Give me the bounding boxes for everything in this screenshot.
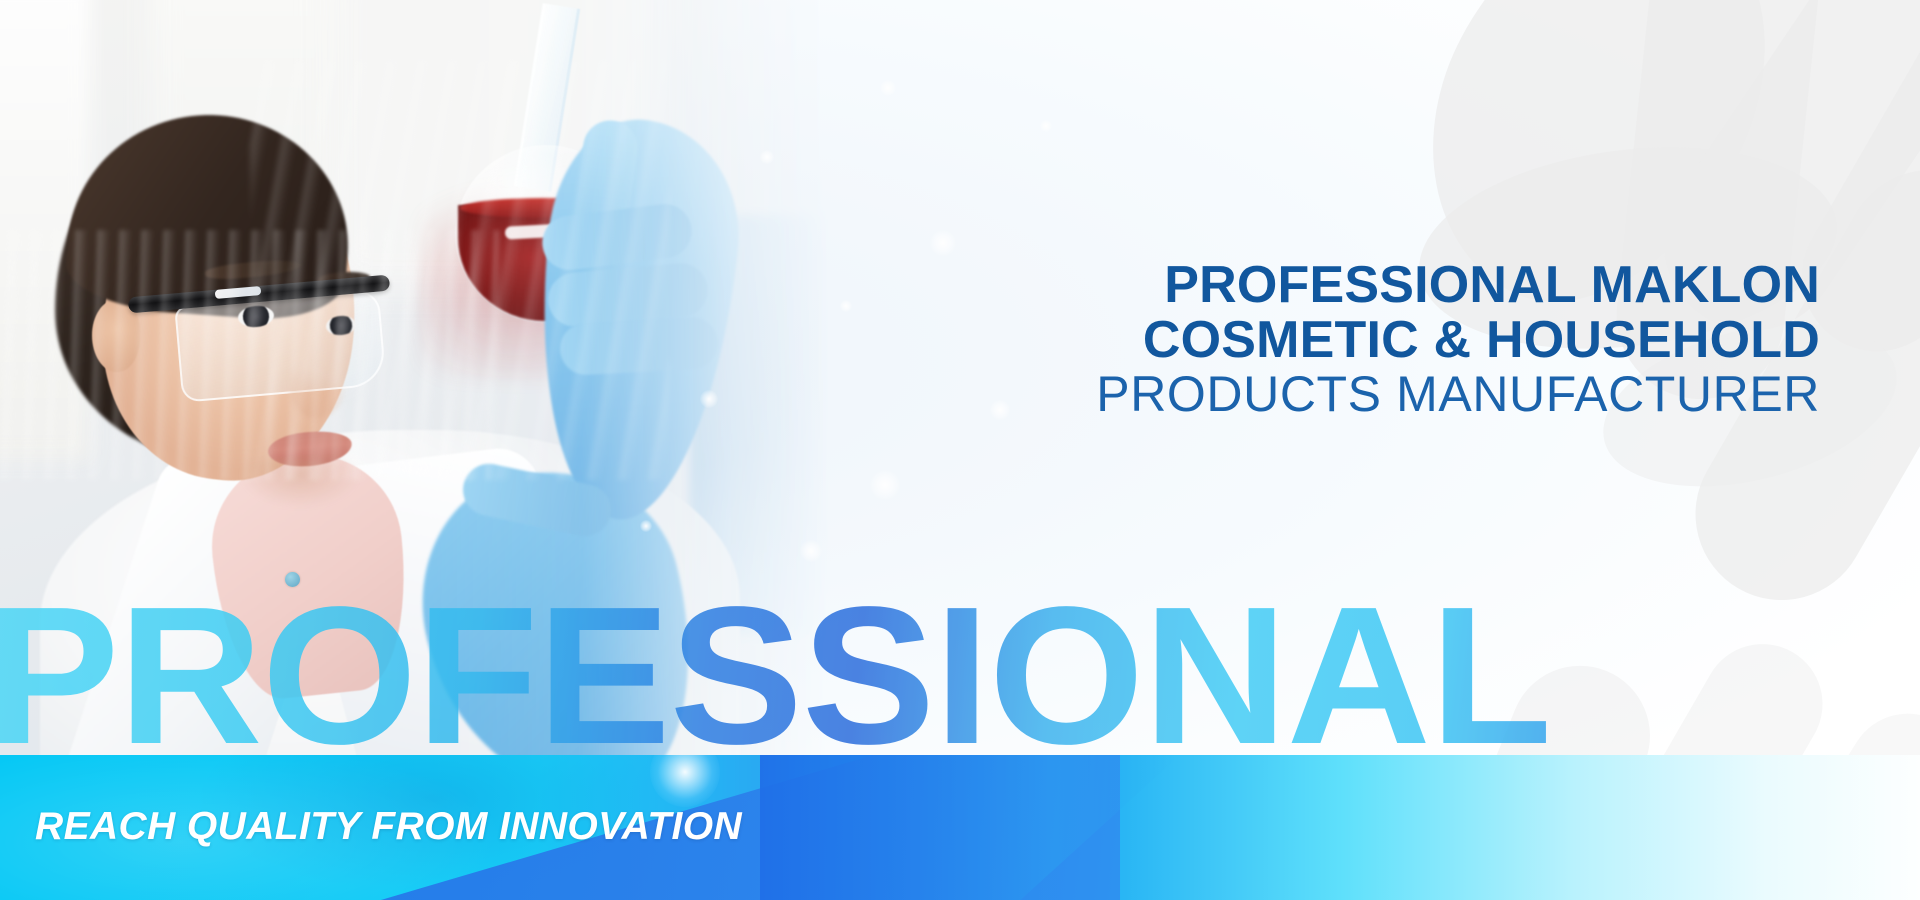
bokeh-dot — [800, 540, 822, 562]
bokeh-dot — [700, 390, 718, 408]
bokeh-dot — [870, 470, 900, 500]
bokeh-dot — [640, 520, 652, 532]
professional-wordmark: PROFESSIONAL — [0, 578, 1883, 774]
bokeh-dot — [880, 80, 896, 96]
tagline: REACH QUALITY FROM INNOVATION — [35, 805, 742, 849]
headline-block: PROFESSIONAL MAKLON COSMETIC & HOUSEHOLD… — [1096, 258, 1820, 421]
bokeh-dot — [760, 150, 774, 164]
bokeh-dot — [840, 300, 852, 312]
headline-line-2: COSMETIC & HOUSEHOLD — [1096, 313, 1820, 368]
hero-banner: PROFESSIONAL MAKLON COSMETIC & HOUSEHOLD… — [0, 0, 1920, 900]
bottom-band: REACH QUALITY FROM INNOVATION — [0, 755, 1920, 900]
bokeh-dot — [930, 230, 956, 256]
bokeh-dot — [1040, 120, 1052, 132]
headline-line-3: PRODUCTS MANUFACTURER — [1096, 368, 1820, 421]
headline-line-1: PROFESSIONAL MAKLON — [1096, 258, 1820, 313]
bokeh-dot — [990, 400, 1010, 420]
motion-blur-streaks — [250, 60, 670, 480]
